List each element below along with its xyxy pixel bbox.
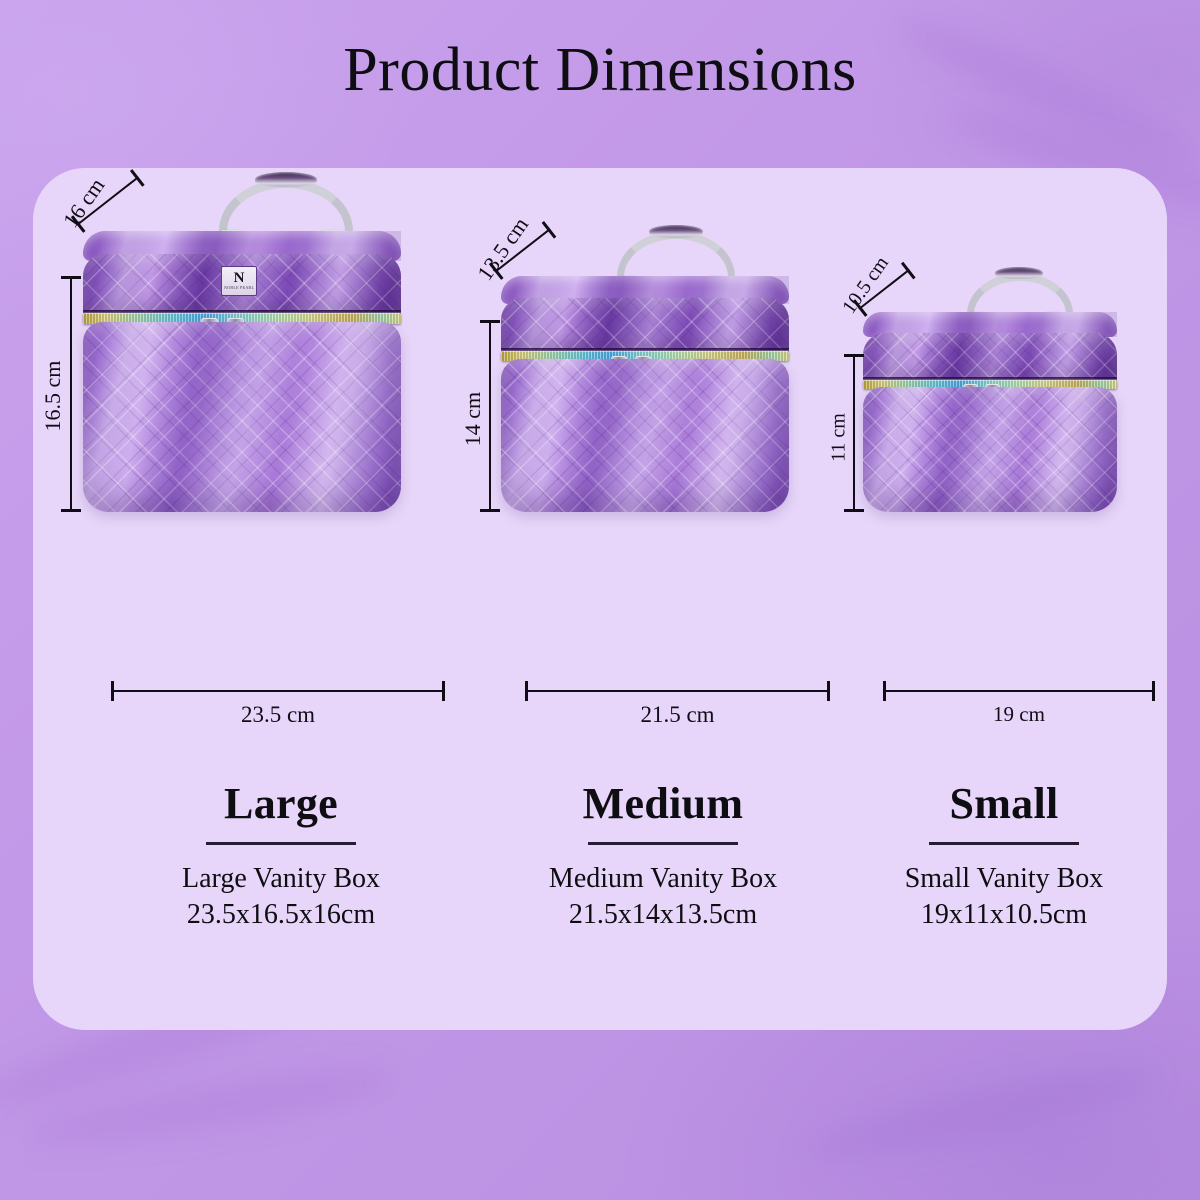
width-dimension-label-medium: 21.5 cm bbox=[525, 702, 830, 728]
caption-divider-medium bbox=[588, 842, 738, 845]
caption-product-name-large: Large Vanity Box bbox=[87, 861, 475, 897]
width-dimension-label-small: 19 cm bbox=[883, 702, 1155, 727]
caption-small: Small Small Vanity Box 19x11x10.5cm bbox=[839, 780, 1169, 933]
height-dimension-label-large: 16.5 cm bbox=[40, 346, 66, 446]
background-leaf-shadow bbox=[19, 1056, 401, 1159]
caption-divider-large bbox=[206, 842, 356, 845]
lid-sheen-small bbox=[863, 333, 1117, 379]
caption-title-large: Large bbox=[87, 780, 475, 828]
body-sheen-small bbox=[863, 387, 1117, 512]
product-row: N NOBLE PEARL bbox=[33, 168, 1167, 768]
caption-product-name-medium: Medium Vanity Box bbox=[469, 861, 857, 897]
brand-mark-text: N bbox=[234, 271, 245, 286]
infographic-canvas: Product Dimensions bbox=[0, 0, 1200, 1200]
lid-quilt-pattern-small bbox=[863, 333, 1117, 379]
handle-grip-medium bbox=[649, 225, 703, 238]
body-quilt-pattern-large bbox=[83, 322, 401, 512]
caption-dimensions-large: 23.5x16.5x16cm bbox=[87, 897, 475, 933]
caption-divider-small bbox=[929, 842, 1079, 845]
width-dimension-label-large: 23.5 cm bbox=[111, 702, 445, 728]
caption-title-medium: Medium bbox=[469, 780, 857, 828]
caption-dimensions-medium: 21.5x14x13.5cm bbox=[469, 897, 857, 933]
brand-logo-tag-large: N NOBLE PEARL bbox=[221, 266, 257, 296]
page-title: Product Dimensions bbox=[0, 38, 1200, 103]
caption-product-name-small: Small Vanity Box bbox=[839, 861, 1169, 897]
width-dimension-line-large bbox=[111, 690, 445, 692]
height-dimension-line-medium bbox=[489, 320, 491, 512]
caption-title-small: Small bbox=[839, 780, 1169, 828]
case-body-small bbox=[863, 387, 1117, 512]
height-dimension-line-large bbox=[70, 276, 72, 512]
height-dimension-label-medium: 14 cm bbox=[460, 373, 486, 465]
body-quilt-pattern-medium bbox=[501, 359, 789, 512]
handle-grip-large bbox=[255, 172, 317, 187]
background-leaf-shadow bbox=[799, 1053, 1161, 1173]
caption-medium: Medium Medium Vanity Box 21.5x14x13.5cm bbox=[469, 780, 857, 933]
body-sheen-large bbox=[83, 322, 401, 512]
case-body-medium bbox=[501, 359, 789, 512]
content-card: N NOBLE PEARL bbox=[33, 168, 1167, 1030]
lid-sheen-medium bbox=[501, 298, 789, 350]
height-dimension-line-small bbox=[853, 354, 855, 512]
brand-subtext: NOBLE PEARL bbox=[224, 287, 254, 291]
handle-grip-small bbox=[995, 267, 1043, 279]
lid-quilt-pattern-medium bbox=[501, 298, 789, 350]
case-body-large bbox=[83, 322, 401, 512]
body-quilt-pattern-small bbox=[863, 387, 1117, 512]
case-lid-medium bbox=[501, 298, 789, 350]
case-lid-small bbox=[863, 333, 1117, 379]
body-sheen-medium bbox=[501, 359, 789, 512]
height-dimension-label-small: 11 cm bbox=[828, 394, 851, 482]
width-dimension-line-small bbox=[883, 690, 1155, 692]
caption-large: Large Large Vanity Box 23.5x16.5x16cm bbox=[87, 780, 475, 933]
width-dimension-line-medium bbox=[525, 690, 830, 692]
caption-dimensions-small: 19x11x10.5cm bbox=[839, 897, 1169, 933]
